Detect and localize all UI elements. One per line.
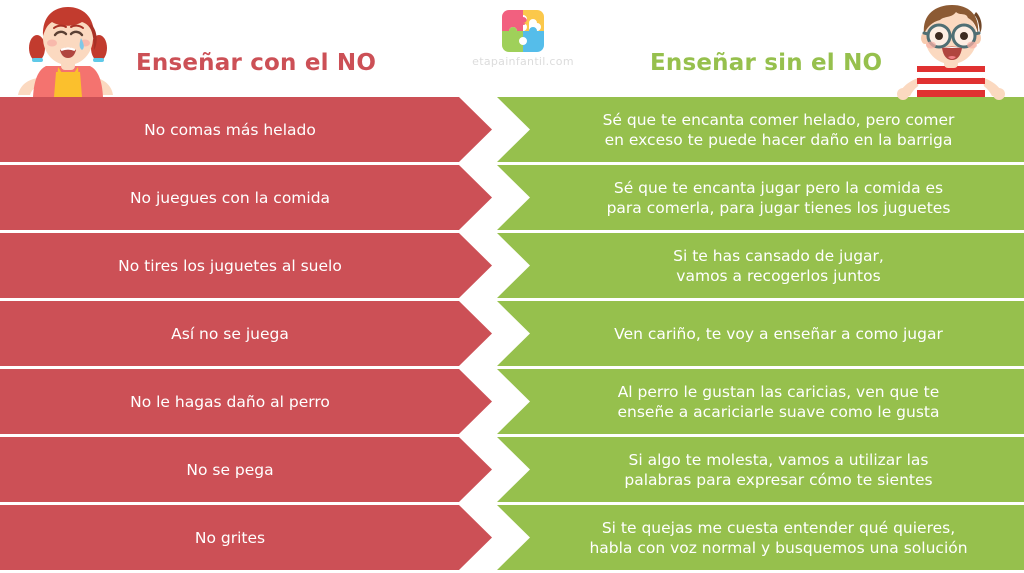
positive-phrase-bar: Al perro le gustan las caricias, ven que…	[497, 369, 1024, 434]
negative-phrase-text: No se pega	[186, 460, 273, 480]
negative-phrase-bar: No se pega	[0, 437, 492, 502]
negative-phrase-bar: No comas más helado	[0, 97, 492, 162]
table-row: No juegues con la comida Sé que te encan…	[0, 165, 1024, 230]
table-row: No comas más helado Sé que te encanta co…	[0, 97, 1024, 162]
negative-phrase-bar: No tires los juguetes al suelo	[0, 233, 492, 298]
puzzle-icon	[502, 10, 544, 52]
positive-phrase-text: Sé que te encanta jugar pero la comida e…	[607, 178, 951, 218]
table-row: No grites Si te quejas me cuesta entende…	[0, 505, 1024, 570]
negative-phrase-text: No grites	[195, 528, 265, 548]
table-row: No tires los juguetes al suelo Si te has…	[0, 233, 1024, 298]
column-title-negative: Enseñar con el NO	[136, 50, 376, 76]
positive-phrase-bar: Si te has cansado de jugar, vamos a reco…	[497, 233, 1024, 298]
positive-phrase-bar: Sé que te encanta comer helado, pero com…	[497, 97, 1024, 162]
positive-phrase-text: Ven cariño, te voy a enseñar a como juga…	[614, 324, 943, 344]
table-row: No le hagas daño al perro Al perro le gu…	[0, 369, 1024, 434]
positive-phrase-text: Si te quejas me cuesta entender qué quie…	[589, 518, 967, 558]
positive-phrase-bar: Ven cariño, te voy a enseñar a como juga…	[497, 301, 1024, 366]
column-title-positive: Enseñar sin el NO	[650, 50, 882, 76]
positive-phrase-text: Si algo te molesta, vamos a utilizar las…	[624, 450, 932, 490]
negative-phrase-text: No tires los juguetes al suelo	[118, 256, 342, 276]
positive-phrase-bar: Si algo te molesta, vamos a utilizar las…	[497, 437, 1024, 502]
table-row: Así no se juega Ven cariño, te voy a ens…	[0, 301, 1024, 366]
happy-boy-illustration	[890, 0, 1014, 104]
negative-phrase-text: No juegues con la comida	[130, 188, 330, 208]
negative-phrase-bar: No juegues con la comida	[0, 165, 492, 230]
positive-phrase-bar: Si te quejas me cuesta entender qué quie…	[497, 505, 1024, 570]
table-row: No se pega Si algo te molesta, vamos a u…	[0, 437, 1024, 502]
positive-phrase-bar: Sé que te encanta jugar pero la comida e…	[497, 165, 1024, 230]
header: Enseñar con el NO Enseñar sin el NO etap…	[0, 0, 1024, 97]
comparison-rows: No comas más helado Sé que te encanta co…	[0, 97, 1024, 573]
negative-phrase-bar: No grites	[0, 505, 492, 570]
negative-phrase-text: Así no se juega	[171, 324, 289, 344]
brand-logo: etapainfantil.com	[463, 10, 583, 68]
negative-phrase-bar: No le hagas daño al perro	[0, 369, 492, 434]
negative-phrase-text: No le hagas daño al perro	[130, 392, 330, 412]
positive-phrase-text: Si te has cansado de jugar, vamos a reco…	[673, 246, 884, 286]
positive-phrase-text: Al perro le gustan las caricias, ven que…	[618, 382, 940, 422]
negative-phrase-bar: Así no se juega	[0, 301, 492, 366]
brand-logo-text: etapainfantil.com	[463, 55, 583, 68]
negative-phrase-text: No comas más helado	[144, 120, 316, 140]
infographic-root: No comas más helado Sé que te encanta co…	[0, 0, 1024, 573]
crying-girl-illustration	[8, 0, 128, 104]
positive-phrase-text: Sé que te encanta comer helado, pero com…	[603, 110, 955, 150]
